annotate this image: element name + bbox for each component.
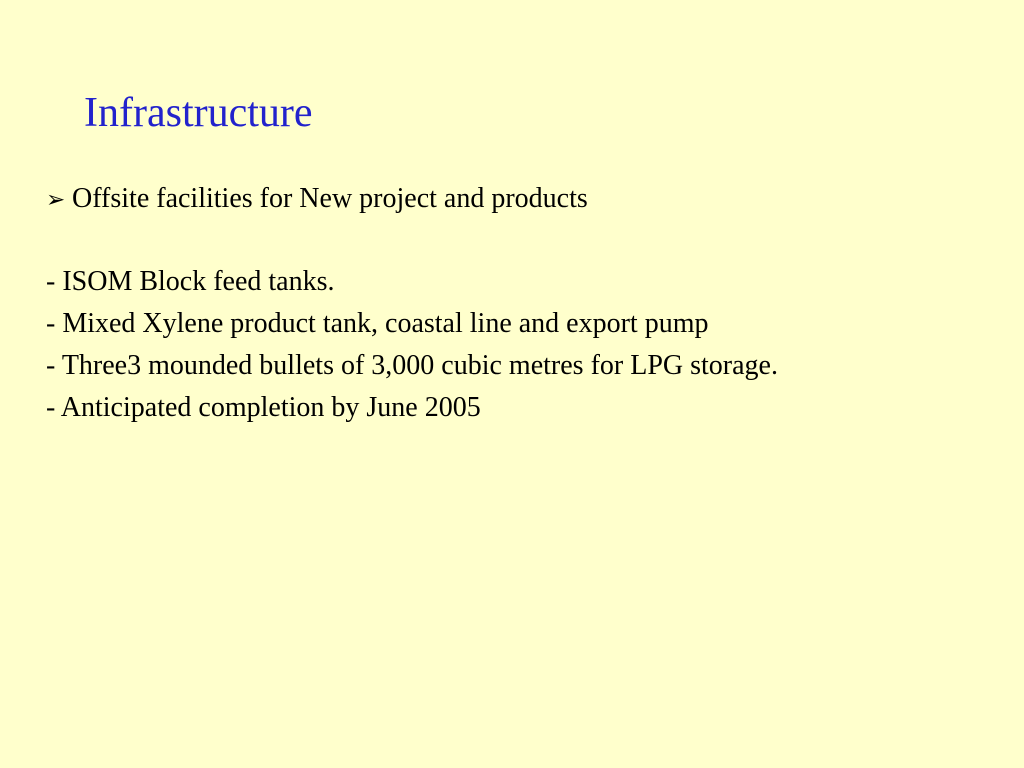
arrowhead-bullet-icon: ➢ <box>46 181 72 219</box>
slide-body: ➢Offsite facilities for New project and … <box>46 180 986 429</box>
dash-item-list: - ISOM Block feed tanks. - Mixed Xylene … <box>46 261 986 429</box>
page-title: Infrastructure <box>84 88 313 138</box>
list-item: - Mixed Xylene product tank, coastal lin… <box>46 303 986 345</box>
list-item: - Anticipated completion by June 2005 <box>46 387 986 429</box>
blank-line-spacer <box>46 219 986 261</box>
list-item: - ISOM Block feed tanks. <box>46 261 986 303</box>
list-item: - Three3 mounded bullets of 3,000 cubic … <box>46 345 986 387</box>
presentation-slide: Infrastructure ➢Offsite facilities for N… <box>0 0 1024 768</box>
bullet-item-label: Offsite facilities for New project and p… <box>72 183 588 214</box>
bullet-item-offsite-facilities: ➢Offsite facilities for New project and … <box>46 180 986 219</box>
